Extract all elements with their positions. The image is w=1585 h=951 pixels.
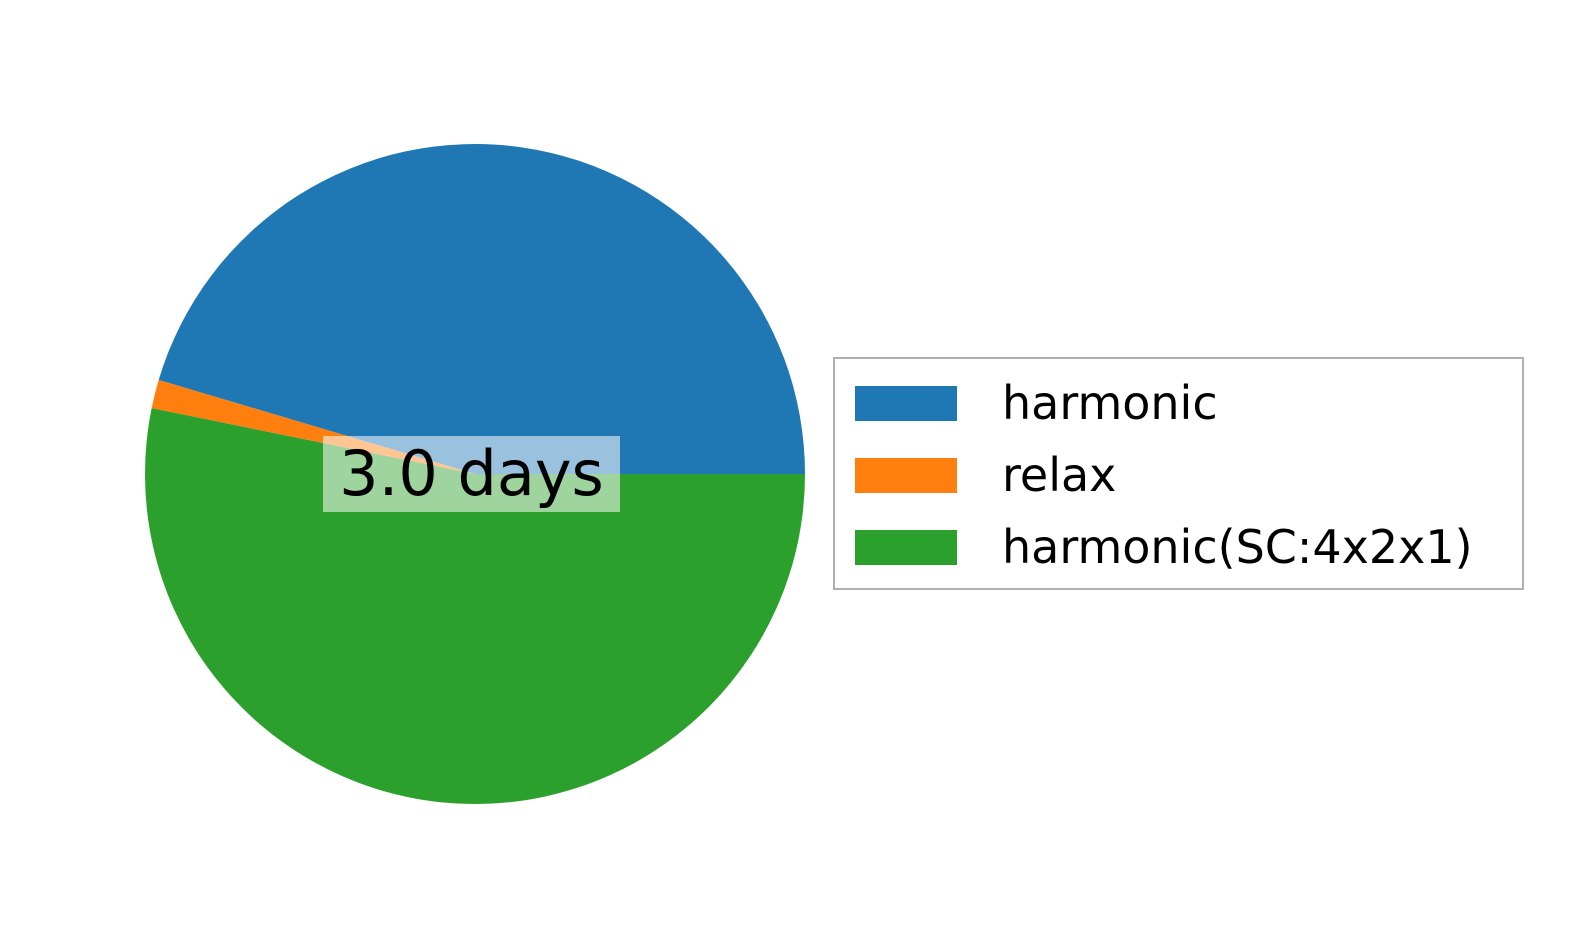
pie-svg bbox=[0, 0, 951, 951]
legend-entry-harmonic-sc[interactable]: harmonic(SC:4x2x1) bbox=[835, 511, 1473, 583]
pie-chart-figure: 3.0 days harmonic relax harmonic(SC:4x2x… bbox=[0, 0, 1585, 951]
legend-entry-relax[interactable]: relax bbox=[835, 439, 1116, 511]
legend-swatch-relax bbox=[855, 458, 957, 493]
legend-swatch-harmonic-sc bbox=[855, 530, 957, 565]
legend-label-harmonic: harmonic bbox=[1002, 380, 1218, 426]
legend-box: harmonic relax harmonic(SC:4x2x1) bbox=[833, 357, 1524, 590]
legend-swatch-harmonic bbox=[855, 386, 957, 421]
pie-wedges-group bbox=[145, 144, 805, 804]
legend-label-relax: relax bbox=[1002, 452, 1116, 498]
legend-label-harmonic-sc: harmonic(SC:4x2x1) bbox=[1002, 524, 1473, 570]
pie-plot-area bbox=[0, 0, 951, 951]
legend-entry-harmonic[interactable]: harmonic bbox=[835, 367, 1218, 439]
